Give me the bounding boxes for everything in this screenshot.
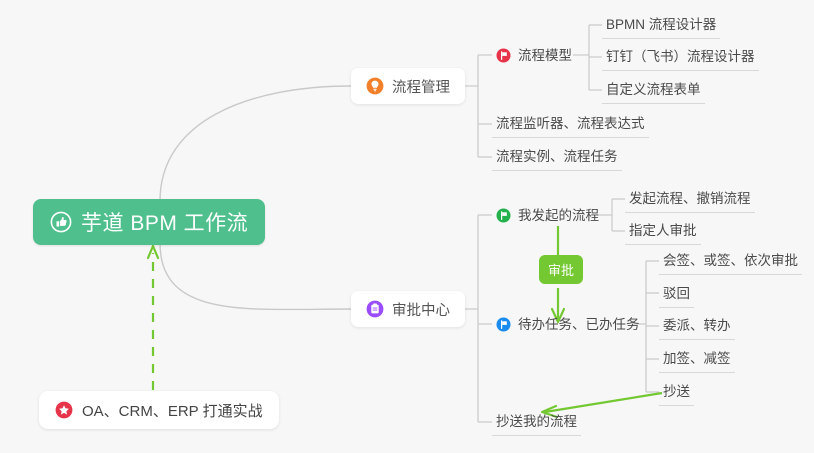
flag-green-icon xyxy=(496,208,511,223)
thumbs-up-icon xyxy=(50,211,72,233)
leaf-bpmn-designer-label: BPMN 流程设计器 xyxy=(606,18,716,32)
node-todo-done[interactable]: 待办任务、已办任务 xyxy=(492,314,644,338)
leaf-custom-form-label: 自定义流程表单 xyxy=(606,83,701,97)
flag-blue-icon xyxy=(496,317,511,332)
node-process-model-label: 流程模型 xyxy=(518,49,572,63)
note-card-label: OA、CRM、ERP 打通实战 xyxy=(82,400,263,421)
leaf-delegate-transfer[interactable]: 委派、转办 xyxy=(659,315,735,340)
mindmap-canvas: 芋道 BPM 工作流 OA、CRM、ERP 打通实战 流程管理 xyxy=(0,0,814,453)
root-node[interactable]: 芋道 BPM 工作流 xyxy=(33,199,265,245)
root-label: 芋道 BPM 工作流 xyxy=(81,207,248,237)
lightbulb-icon xyxy=(366,77,384,95)
leaf-delegate-transfer-label: 委派、转办 xyxy=(663,319,731,333)
node-my-initiated[interactable]: 我发起的流程 xyxy=(492,205,603,229)
leaf-cc-to-me[interactable]: 抄送我的流程 xyxy=(492,411,581,436)
node-todo-done-label: 待办任务、已办任务 xyxy=(518,318,640,332)
leaf-assignee-approve[interactable]: 指定人审批 xyxy=(625,220,701,245)
branch-process-management[interactable]: 流程管理 xyxy=(351,68,465,104)
node-process-model[interactable]: 流程模型 xyxy=(492,45,576,69)
leaf-custom-form[interactable]: 自定义流程表单 xyxy=(602,79,705,104)
leaf-add-remove-sign[interactable]: 加签、减签 xyxy=(659,348,735,373)
arrow-cc-to-ccmine xyxy=(545,393,662,412)
leaf-dingtalk-designer-label: 钉钉（飞书）流程设计器 xyxy=(606,50,755,64)
node-my-initiated-label: 我发起的流程 xyxy=(518,209,599,223)
leaf-carbon-copy-label: 抄送 xyxy=(663,385,690,399)
leaf-carbon-copy[interactable]: 抄送 xyxy=(659,381,694,406)
leaf-instance-task[interactable]: 流程实例、流程任务 xyxy=(492,146,622,171)
leaf-multi-sign-label: 会签、或签、依次审批 xyxy=(663,254,798,268)
leaf-add-remove-sign-label: 加签、减签 xyxy=(663,352,731,366)
leaf-dingtalk-designer[interactable]: 钉钉（飞书）流程设计器 xyxy=(602,46,759,71)
clipboard-icon xyxy=(366,300,384,318)
link-root-to-process-management xyxy=(160,86,351,201)
link-root-to-approval-center xyxy=(160,243,351,310)
leaf-reject-label: 驳回 xyxy=(663,287,690,301)
star-icon xyxy=(55,401,73,419)
leaf-assignee-approve-label: 指定人审批 xyxy=(629,224,697,238)
leaf-start-cancel[interactable]: 发起流程、撤销流程 xyxy=(625,188,755,213)
leaf-listener-expression[interactable]: 流程监听器、流程表达式 xyxy=(492,113,649,138)
leaf-reject[interactable]: 驳回 xyxy=(659,283,694,308)
leaf-start-cancel-label: 发起流程、撤销流程 xyxy=(629,192,751,206)
leaf-cc-to-me-label: 抄送我的流程 xyxy=(496,415,577,429)
leaf-multi-sign[interactable]: 会签、或签、依次审批 xyxy=(659,250,802,275)
flag-red-icon xyxy=(496,48,511,63)
branch-process-management-label: 流程管理 xyxy=(392,76,450,97)
note-card-oa-crm-erp[interactable]: OA、CRM、ERP 打通实战 xyxy=(39,391,279,429)
arrowhead-note-to-root xyxy=(148,246,158,258)
branch-approval-center-label: 审批中心 xyxy=(392,299,450,320)
leaf-instance-task-label: 流程实例、流程任务 xyxy=(496,150,618,164)
leaf-listener-expression-label: 流程监听器、流程表达式 xyxy=(496,117,645,131)
branch-approval-center[interactable]: 审批中心 xyxy=(351,291,465,327)
annotation-badge-approve: 审批 xyxy=(539,255,583,284)
leaf-bpmn-designer[interactable]: BPMN 流程设计器 xyxy=(602,14,720,39)
